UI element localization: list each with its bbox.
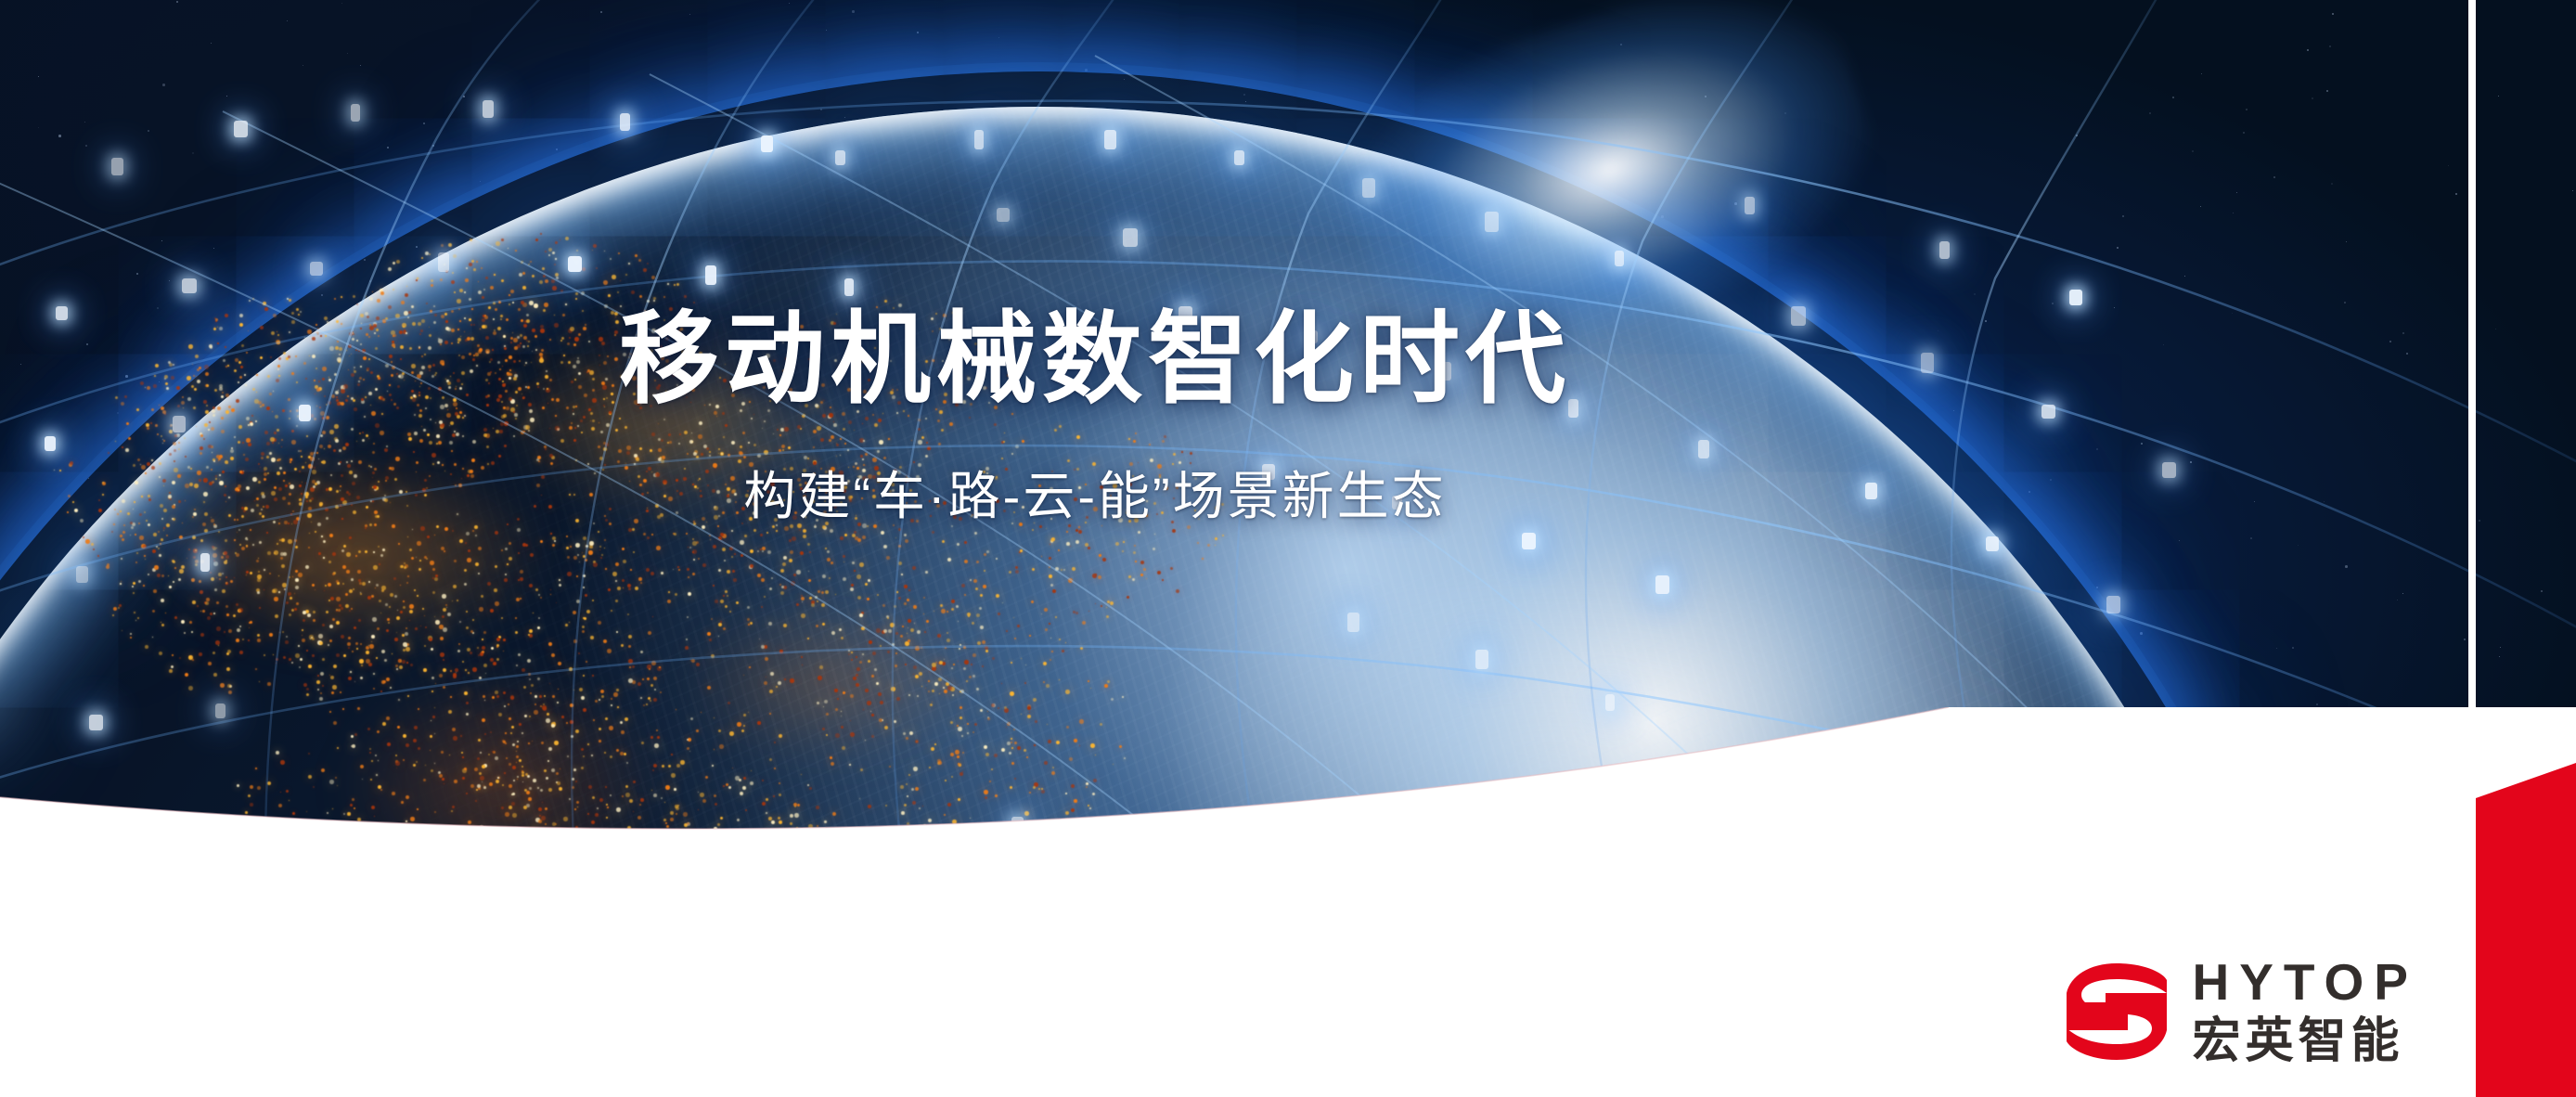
title-slide: 移动机械数智化时代 构建“车·路-云-能”场景新生态 HYTOP 宏英智能 (0, 0, 2576, 1097)
brand-name-cn: 宏英智能 (2193, 1017, 2418, 1065)
brand-name-en: HYTOP (2193, 957, 2418, 1008)
right-white-gutter (2468, 0, 2476, 800)
hytop-g-mark-icon (2065, 961, 2169, 1062)
red-accent-block-icon (2476, 763, 2576, 1097)
page-title: 移动机械数智化时代 (0, 306, 2190, 412)
brand-logo: HYTOP 宏英智能 (2065, 957, 2418, 1065)
page-subtitle: 构建“车·路-云-能”场景新生态 (0, 455, 2190, 530)
brand-logotype: HYTOP 宏英智能 (2193, 957, 2418, 1065)
title-block: 移动机械数智化时代 构建“车·路-云-能”场景新生态 (0, 306, 2190, 530)
